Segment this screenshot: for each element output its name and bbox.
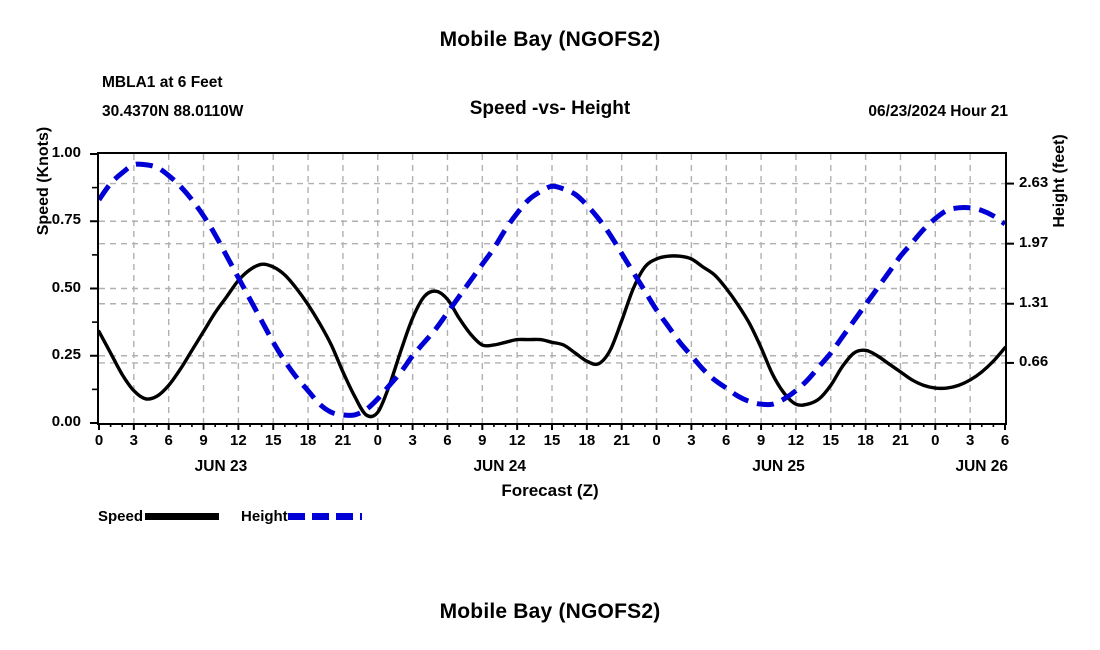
station-label: MBLA1 at 6 Feet: [102, 74, 223, 92]
y-axis-left-tick-label: 0.50: [25, 279, 81, 296]
x-axis-day-label: JUN 24: [430, 458, 570, 476]
page-title-top: Mobile Bay (NGOFS2): [0, 28, 1100, 52]
chart-page: Mobile Bay (NGOFS2) MBLA1 at 6 Feet 30.4…: [0, 0, 1100, 650]
x-axis-day-label: JUN 23: [151, 458, 291, 476]
y-axis-right-tick-label: 1.97: [1019, 234, 1079, 251]
x-axis-day-label: JUN 25: [709, 458, 849, 476]
legend-label-speed: Speed: [98, 508, 143, 525]
x-axis-tick-label: 6: [985, 432, 1025, 449]
y-axis-left-tick-label: 0.25: [25, 346, 81, 363]
x-axis-title: Forecast (Z): [0, 481, 1100, 501]
legend-swatch-height: [288, 513, 362, 520]
legend-swatch-speed: [145, 513, 219, 520]
y-axis-right-tick-label: 1.31: [1019, 294, 1079, 311]
legend-label-height: Height: [241, 508, 288, 525]
chart-legend: Speed Height: [98, 508, 362, 525]
model-run-label: 06/23/2024 Hour 21: [868, 103, 1008, 121]
y-axis-right-tick-label: 0.66: [1019, 353, 1079, 370]
page-title-bottom: Mobile Bay (NGOFS2): [0, 600, 1100, 624]
x-axis-day-label: JUN 26: [912, 458, 1052, 476]
y-axis-left-tick-label: 0.75: [25, 211, 81, 228]
y-axis-left-tick-label: 1.00: [25, 144, 81, 161]
plot-area: [97, 152, 1007, 425]
y-axis-right-tick-label: 2.63: [1019, 174, 1079, 191]
y-axis-left-tick-label: 0.00: [25, 413, 81, 430]
y-axis-left-title: Speed (Knots): [35, 51, 53, 311]
chart-canvas: [99, 154, 1005, 423]
